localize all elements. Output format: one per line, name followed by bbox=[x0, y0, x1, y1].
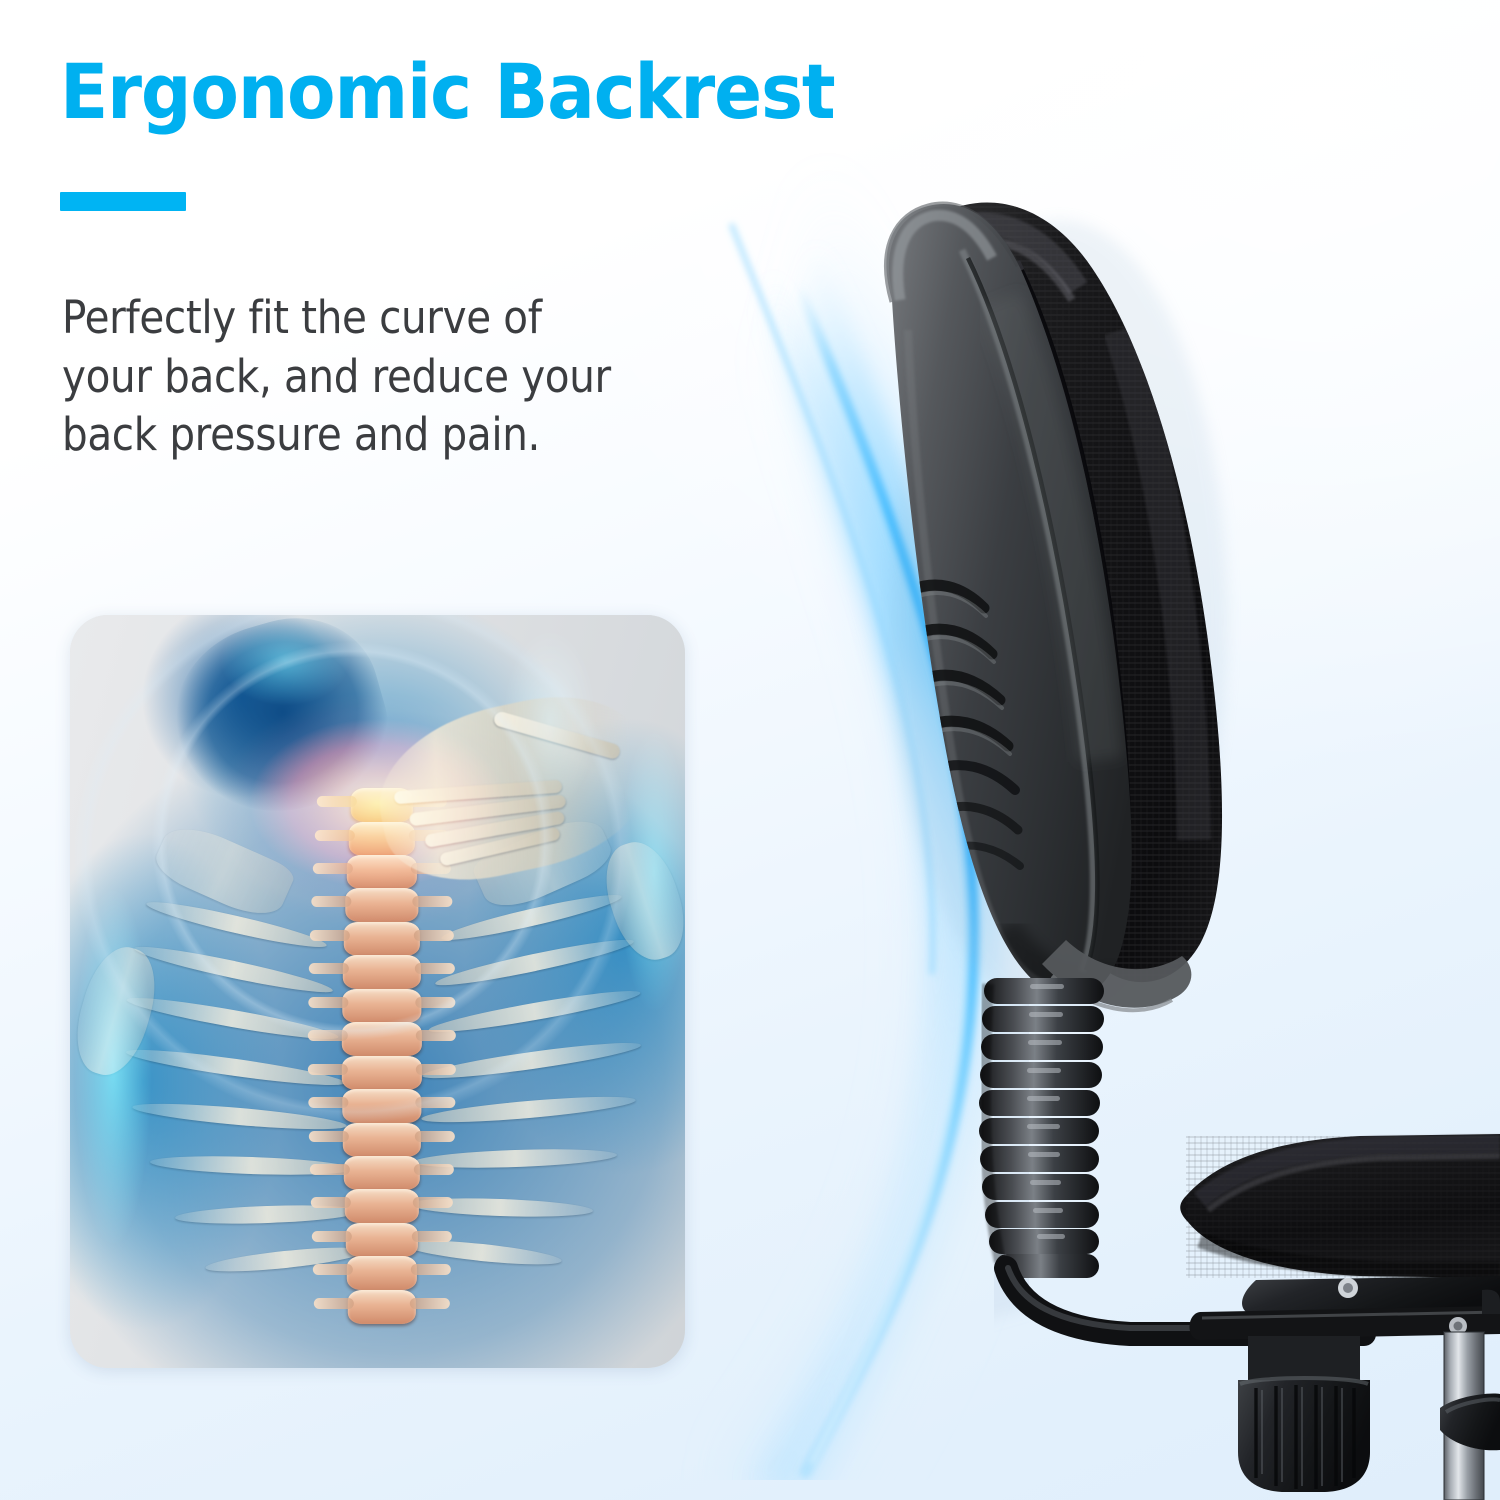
spring-coil bbox=[979, 978, 1104, 1278]
page-title: Ergonomic Backrest bbox=[60, 52, 730, 131]
office-chair-backrest-photo bbox=[700, 0, 1500, 1500]
subcopy-text: Perfectly fit the curve of your back, an… bbox=[62, 289, 638, 465]
accent-bar bbox=[60, 192, 186, 211]
seat-mechanism-plate bbox=[1190, 1276, 1500, 1340]
text-block: Ergonomic Backrest Perfectly fit the cur… bbox=[60, 52, 780, 131]
product-feature-canvas: Ergonomic Backrest Perfectly fit the cur… bbox=[0, 0, 1500, 1500]
seat-cushion bbox=[1180, 1134, 1500, 1278]
height-adjustment-knob bbox=[1238, 1336, 1370, 1492]
spine-pain-anatomy-illustration bbox=[70, 615, 685, 1368]
